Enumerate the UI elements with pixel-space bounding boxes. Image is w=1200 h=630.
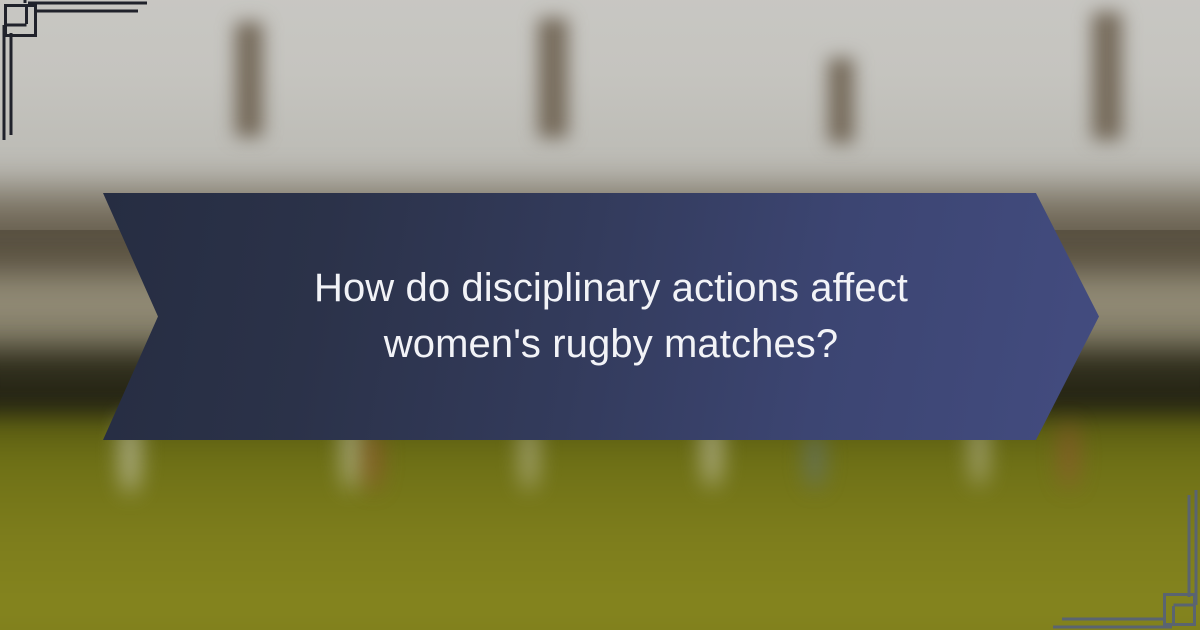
- poster-canvas: How do disciplinary actions affect women…: [0, 0, 1200, 630]
- banner-text-area: How do disciplinary actions affect women…: [103, 193, 1099, 440]
- question-banner: How do disciplinary actions affect women…: [103, 193, 1099, 440]
- building-tower: [235, 22, 263, 137]
- building-tower: [1092, 12, 1122, 140]
- grass-layer: [0, 414, 1200, 630]
- question-title: How do disciplinary actions affect women…: [243, 261, 979, 371]
- building-tower: [538, 18, 568, 138]
- building-tower: [828, 58, 854, 143]
